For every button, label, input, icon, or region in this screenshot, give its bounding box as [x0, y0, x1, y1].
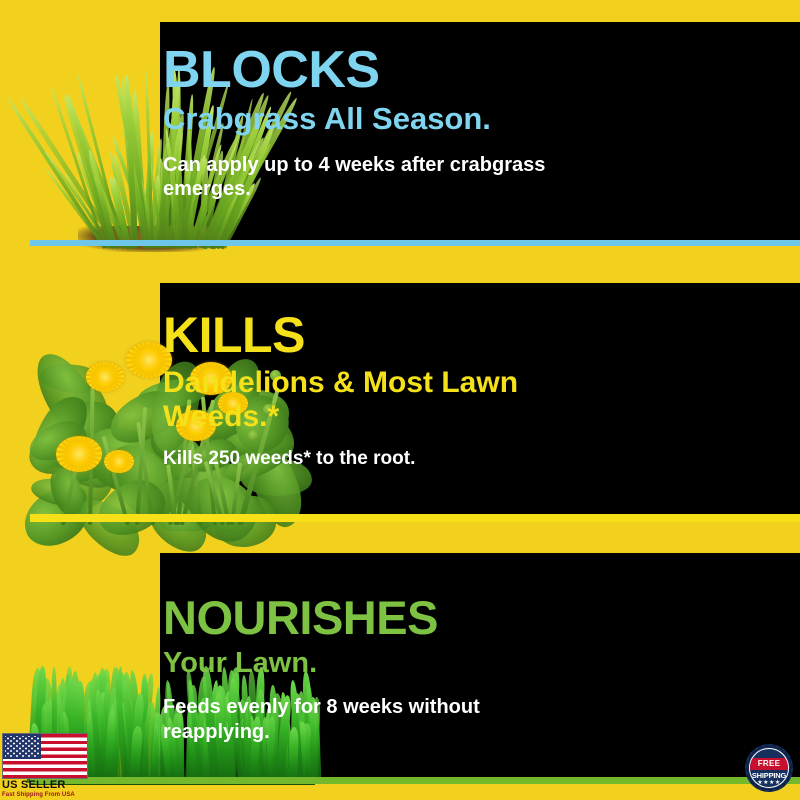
dandelion-leaf: [97, 433, 139, 473]
turf-blade: [111, 699, 121, 783]
dandelion-flower: [104, 450, 134, 473]
turf-blade: [110, 699, 123, 783]
turf-blade: [113, 667, 127, 783]
dandelion-stem: [136, 422, 155, 525]
product-feature-infographic: BLOCKS Crabgrass All Season. Can apply u…: [0, 0, 800, 800]
dandelion-leaf: [24, 415, 91, 466]
grass-blade: [65, 93, 119, 249]
turf-blade: [109, 698, 117, 783]
grass-blade: [123, 75, 150, 249]
turf-blade: [141, 674, 148, 783]
grass-blade: [69, 103, 131, 248]
turf-blade: [104, 695, 112, 783]
turf-blade: [119, 702, 137, 783]
dandelion-flower: [86, 362, 124, 392]
grass-blade: [108, 177, 132, 249]
blocks-headline: BLOCKS: [163, 44, 788, 96]
dandelion-leaf: [19, 389, 98, 480]
turf-blade: [99, 692, 112, 783]
dandelion-leaf: [29, 472, 89, 511]
free-shipping-seal-icon: FREE SHIPPING ★★★★: [745, 744, 793, 792]
us-seller-title: US SELLER: [2, 780, 96, 792]
kills-headline: KILLS: [163, 310, 788, 360]
turf-blade: [122, 672, 133, 783]
grass-blade: [133, 169, 159, 249]
turf-blade: [129, 670, 147, 783]
turf-blade: [112, 696, 127, 783]
turf-blade: [141, 702, 157, 783]
turf-blade: [98, 726, 108, 783]
us-seller-badge: US SELLER Fast Shipping From USA: [2, 733, 96, 798]
grass-blade: [121, 117, 147, 249]
free-banner: FREE: [749, 758, 789, 770]
nourishes-subhead: Your Lawn.: [163, 647, 788, 679]
turf-blade: [137, 721, 149, 783]
turf-blade: [111, 702, 120, 783]
turf-blade: [103, 710, 115, 783]
grass-blade: [145, 70, 155, 248]
turf-blade: [95, 689, 113, 783]
dandelion-leaf: [70, 488, 149, 566]
dandelion-leaf: [38, 359, 104, 398]
grass-blade: [45, 168, 107, 249]
blocks-accent-bar: [30, 240, 800, 246]
blocks-subhead: Crabgrass All Season.: [163, 102, 788, 137]
grass-blade: [121, 77, 137, 248]
turf-blade: [135, 705, 141, 783]
turf-blade: [122, 703, 132, 784]
us-flag-icon: [2, 733, 88, 779]
nourishes-headline: NOURISHES: [163, 594, 788, 641]
grass-blade: [65, 172, 111, 249]
turf-blade: [103, 689, 115, 783]
turf-blade: [129, 726, 143, 784]
blocks-text-block: BLOCKS Crabgrass All Season. Can apply u…: [163, 44, 788, 202]
turf-blade: [130, 696, 143, 783]
grass-blade: [113, 75, 152, 249]
grass-blade: [111, 175, 132, 248]
turf-blade: [99, 682, 110, 783]
turf-blade: [101, 694, 109, 783]
grass-blade: [6, 97, 107, 249]
turf-blade: [115, 671, 138, 783]
dandelion-leaf: [62, 382, 111, 444]
grass-blade: [133, 92, 138, 248]
dandelion-leaf: [25, 432, 74, 479]
turf-blade: [106, 667, 118, 783]
grass-blade: [87, 149, 118, 248]
grass-blade: [112, 153, 138, 248]
grass-blade: [93, 174, 129, 249]
turf-blade: [128, 693, 144, 784]
grass-blade: [143, 132, 155, 248]
dandelion-flower: [56, 436, 102, 472]
turf-blade: [98, 668, 111, 783]
grass-blade: [51, 87, 107, 248]
turf-blade: [98, 671, 111, 783]
turf-blade: [150, 723, 159, 784]
dandelion-leaf: [54, 451, 115, 495]
dandelion-leaf: [54, 431, 126, 489]
seal-stars: ★★★★: [750, 780, 788, 787]
grass-blade: [128, 124, 136, 248]
dandelion-leaf: [45, 463, 88, 519]
turf-blade: [106, 704, 116, 783]
dandelion-stem: [102, 436, 130, 526]
kills-body: Kills 250 weeds* to the root.: [163, 447, 788, 470]
turf-blade: [137, 706, 148, 783]
grass-blade: [75, 151, 114, 249]
kills-accent-bar: [30, 514, 800, 522]
grass-blade: [128, 131, 150, 248]
nourishes-accent-bar: [30, 777, 800, 784]
blocks-body: Can apply up to 4 weeks after crabgrass …: [163, 153, 563, 202]
turf-blade: [136, 673, 155, 783]
turf-blade: [121, 680, 141, 783]
nourishes-text-block: NOURISHES Your Lawn. Feeds evenly for 8 …: [163, 594, 788, 744]
dandelion-leaf: [46, 448, 120, 519]
turf-blade: [101, 687, 118, 783]
grass-blade: [19, 97, 121, 249]
grass-blade: [124, 139, 151, 249]
dandelion-leaf: [46, 395, 123, 456]
shipping-label: SHIPPING: [750, 771, 788, 780]
dandelion-leaf: [28, 344, 108, 445]
dandelion-stem: [135, 407, 147, 525]
grass-blade: [109, 151, 131, 248]
kills-text-block: KILLS Dandelions & Most Lawn Weeds.* Kil…: [163, 310, 788, 470]
nourishes-body: Feeds evenly for 8 weeks without reapply…: [163, 695, 583, 744]
dandelion-stem: [88, 378, 95, 525]
turf-blade: [150, 712, 159, 783]
grass-blade: [44, 150, 115, 248]
us-seller-subtitle: Fast Shipping From USA: [2, 792, 96, 798]
grass-blade: [125, 74, 139, 248]
grass-blade: [132, 89, 147, 248]
turf-blade: [105, 666, 123, 783]
kills-subhead: Dandelions & Most Lawn Weeds.*: [163, 366, 563, 433]
flag-canton: [3, 734, 41, 759]
turf-blade: [100, 669, 111, 783]
grass-blade: [110, 135, 154, 248]
grass-blade: [77, 74, 125, 249]
grass-blade: [62, 94, 115, 249]
seal-inner-ring: FREE SHIPPING ★★★★: [749, 748, 789, 788]
